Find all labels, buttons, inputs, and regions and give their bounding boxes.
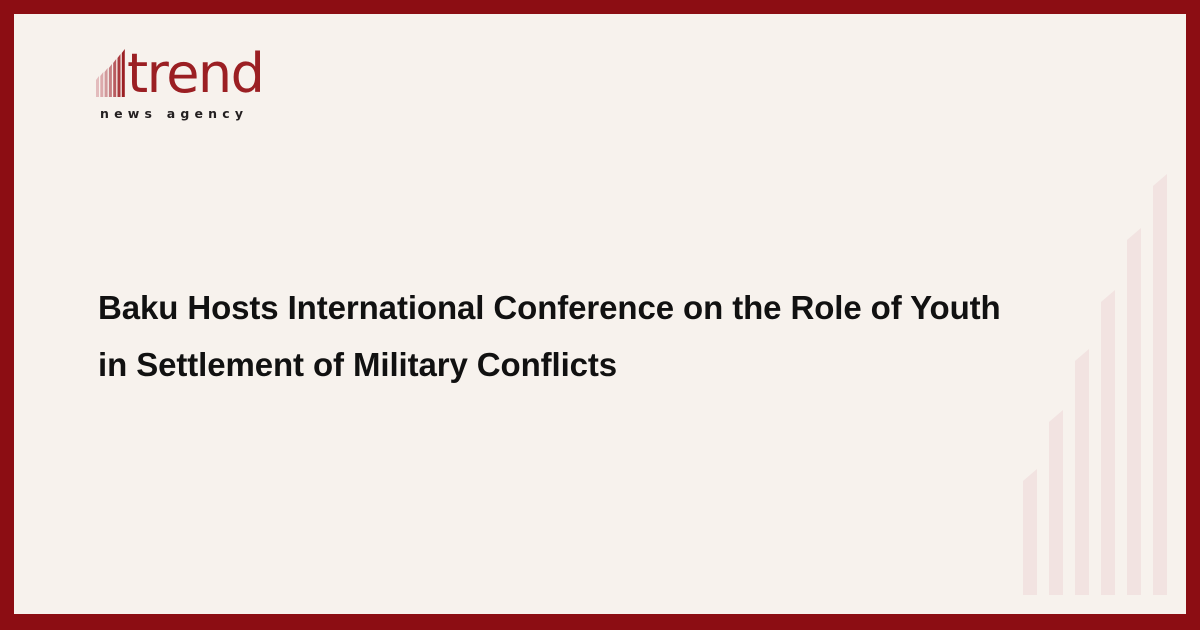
logo-tagline: news agency [100, 106, 272, 121]
headline: Baku Hosts International Conference on t… [98, 279, 1028, 393]
brand-logo[interactable]: trend news agency [96, 41, 272, 121]
rising-bars-icon [96, 49, 126, 97]
card-canvas: trend news agency Baku Hosts Internation… [14, 14, 1186, 614]
rising-bars-watermark [1023, 174, 1167, 595]
logo-lockup: trend [96, 41, 272, 99]
logo-wordmark: trend [127, 49, 263, 99]
social-share-card: trend news agency Baku Hosts Internation… [0, 0, 1200, 630]
